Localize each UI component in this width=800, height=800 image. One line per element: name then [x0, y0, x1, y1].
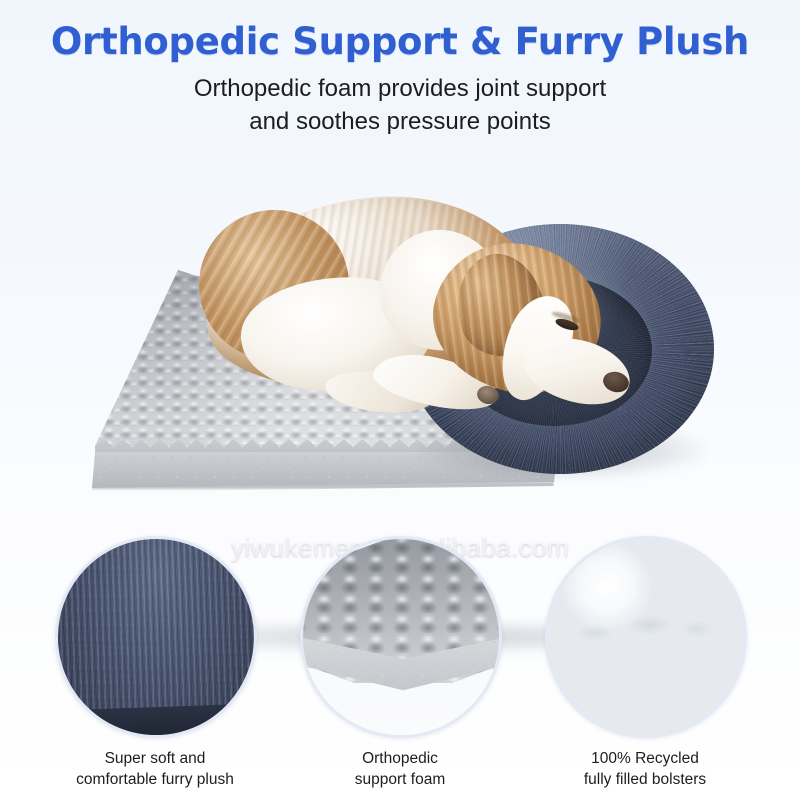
feature-foam-caption-line-2: support foam — [300, 769, 500, 790]
feature-highlights: Super soft and comfortable furry plush O… — [0, 536, 800, 800]
feature-foam-image — [300, 536, 502, 738]
page-subtitle: Orthopedic foam provides joint support a… — [0, 72, 800, 138]
hero-product-photo: yiwukemeng.en.alibaba.com — [0, 150, 800, 520]
feature-fill-caption-line-2: fully filled bolsters — [545, 769, 745, 790]
feature-fill-caption-line-1: 100% Recycled — [545, 748, 745, 769]
page-title: Orthopedic Support & Furry Plush — [0, 20, 800, 63]
feature-plush-image — [55, 536, 257, 738]
feature-foam-caption-line-1: Orthopedic — [300, 748, 500, 769]
subtitle-line-1: Orthopedic foam provides joint support — [0, 72, 800, 105]
feature-plush-caption: Super soft and comfortable furry plush — [55, 748, 255, 790]
feature-fill-caption: 100% Recycled fully filled bolsters — [545, 748, 745, 790]
feature-plush: Super soft and comfortable furry plush — [55, 536, 255, 738]
feature-fill: 100% Recycled fully filled bolsters — [545, 536, 745, 738]
product-marketing-image: Orthopedic Support & Furry Plush Orthope… — [0, 0, 800, 800]
feature-plush-caption-line-2: comfortable furry plush — [55, 769, 255, 790]
subtitle-line-2: and soothes pressure points — [0, 105, 800, 138]
feature-foam: Orthopedic support foam — [300, 536, 500, 738]
feature-foam-caption: Orthopedic support foam — [300, 748, 500, 790]
feature-plush-caption-line-1: Super soft and — [55, 748, 255, 769]
fiber-fill-shading — [548, 539, 744, 735]
sleeping-dog — [205, 190, 675, 450]
feature-fill-image — [545, 536, 747, 738]
